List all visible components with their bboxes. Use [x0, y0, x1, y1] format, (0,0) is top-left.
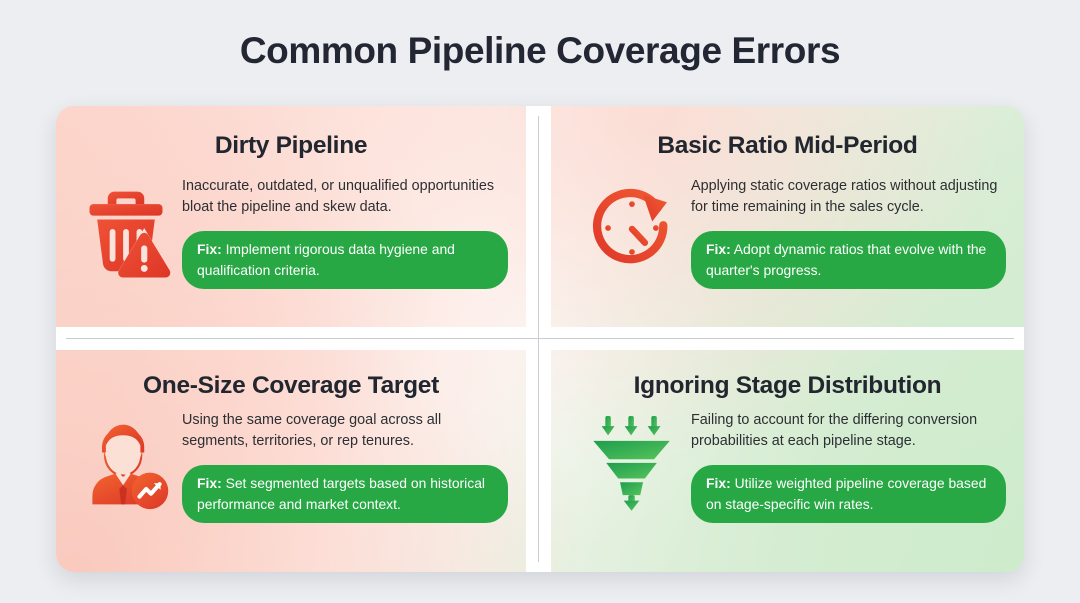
quadrant-basic-ratio-mid-period: Basic Ratio Mid-Period — [551, 106, 1024, 327]
fix-text: Implement rigorous data hygiene and qual… — [197, 241, 455, 277]
text-column: Applying static coverage ratios without … — [691, 176, 1006, 289]
trash-warning-icon — [78, 182, 174, 278]
quadrant-ignoring-stage-distribution: Ignoring Stage Distribution — [551, 350, 1024, 572]
quadrant-title: One-Size Coverage Target — [56, 372, 526, 400]
quadrant-description: Using the same coverage goal across all … — [182, 410, 508, 452]
text-column: Inaccurate, outdated, or unqualified opp… — [182, 176, 508, 289]
quadrant-title: Ignoring Stage Distribution — [551, 372, 1024, 400]
quadrant-one-size-coverage-target: One-Size Coverage Target — [56, 350, 526, 572]
quadrant-description: Inaccurate, outdated, or unqualified opp… — [182, 176, 508, 218]
salesperson-trend-icon — [78, 416, 174, 512]
funnel-icon — [586, 412, 678, 512]
quadrant-card: Dirty Pipeline — [56, 106, 1024, 572]
icon-container — [70, 176, 182, 278]
text-column: Using the same coverage goal across all … — [182, 410, 508, 523]
text-column: Failing to account for the differing con… — [691, 410, 1006, 523]
fix-label: Fix: — [706, 241, 731, 257]
quadrant-description: Applying static coverage ratios without … — [691, 176, 1006, 218]
fix-label: Fix: — [706, 475, 731, 491]
fix-pill: Fix: Implement rigorous data hygiene and… — [182, 231, 508, 288]
icon-container — [70, 410, 182, 512]
fix-pill: Fix: Utilize weighted pipeline coverage … — [691, 465, 1006, 522]
fix-text: Adopt dynamic ratios that evolve with th… — [706, 241, 986, 277]
quadrant-title: Dirty Pipeline — [56, 132, 526, 160]
quadrant-title: Basic Ratio Mid-Period — [551, 132, 1024, 160]
quadrant-dirty-pipeline: Dirty Pipeline — [56, 106, 526, 327]
fix-text: Utilize weighted pipeline coverage based… — [706, 475, 986, 511]
icon-container — [573, 410, 691, 512]
fix-label: Fix: — [197, 475, 222, 491]
icon-container — [573, 176, 691, 274]
fix-text: Set segmented targets based on historica… — [197, 475, 485, 511]
infographic-page: Common Pipeline Coverage Errors Dirty Pi… — [0, 0, 1080, 603]
clock-arrow-icon — [586, 182, 678, 274]
quadrant-body: Inaccurate, outdated, or unqualified opp… — [56, 176, 526, 289]
quadrant-body: Applying static coverage ratios without … — [551, 176, 1024, 289]
quadrant-body: Using the same coverage goal across all … — [56, 410, 526, 523]
page-title: Common Pipeline Coverage Errors — [0, 30, 1080, 72]
horizontal-divider — [66, 338, 1014, 339]
vertical-divider — [538, 116, 539, 562]
fix-pill: Fix: Set segmented targets based on hist… — [182, 465, 508, 522]
fix-label: Fix: — [197, 241, 222, 257]
quadrant-body: Failing to account for the differing con… — [551, 410, 1024, 523]
quadrant-description: Failing to account for the differing con… — [691, 410, 1006, 452]
fix-pill: Fix: Adopt dynamic ratios that evolve wi… — [691, 231, 1006, 288]
